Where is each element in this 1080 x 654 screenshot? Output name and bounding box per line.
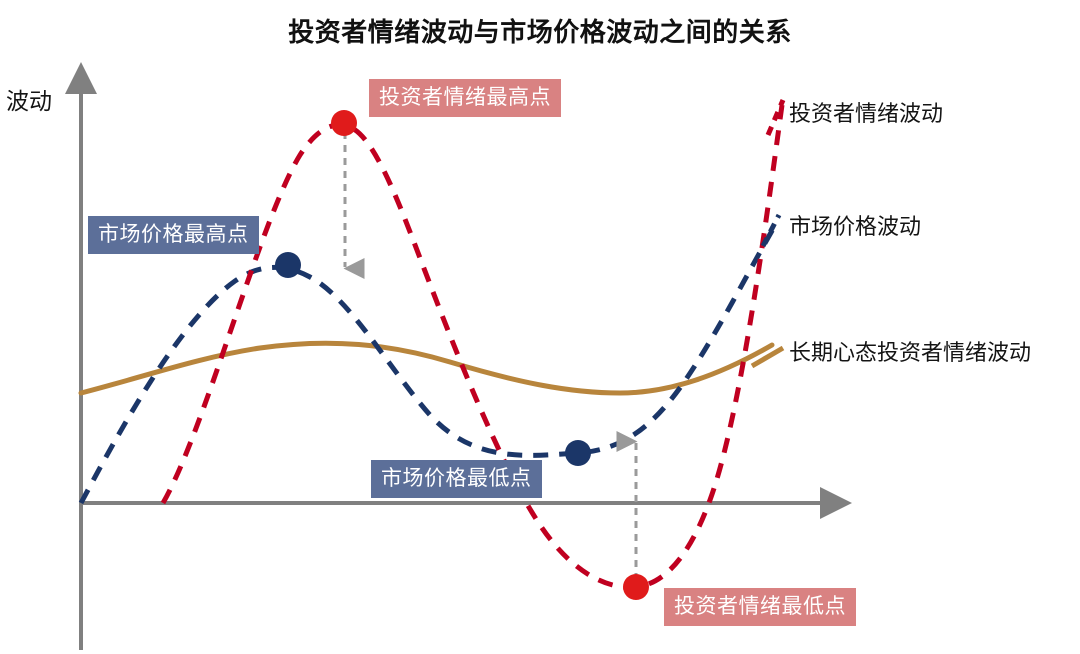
chart-container: 投资者情绪波动与市场价格波动之间的关系 波动 xyxy=(0,0,1080,654)
marker-price-high xyxy=(275,252,301,278)
marker-price-low xyxy=(565,440,591,466)
legend-label-longterm-sentiment: 长期心态投资者情绪波动 xyxy=(789,335,1031,367)
callout-badge-sentiment-high: 投资者情绪最高点 xyxy=(369,79,561,117)
marker-sentiment-high xyxy=(331,110,357,136)
data-point-markers xyxy=(275,110,649,600)
callout-badge-price-high: 市场价格最高点 xyxy=(88,216,259,254)
series-line-longterm-sentiment xyxy=(81,343,772,393)
legend-label-investor-sentiment: 投资者情绪波动 xyxy=(789,96,943,128)
callout-badge-sentiment-low: 投资者情绪最低点 xyxy=(664,588,856,626)
axes-group xyxy=(81,86,828,650)
marker-sentiment-low xyxy=(623,574,649,600)
legend-label-market-price: 市场价格波动 xyxy=(789,209,921,241)
callout-badge-price-low: 市场价格最低点 xyxy=(371,460,542,498)
